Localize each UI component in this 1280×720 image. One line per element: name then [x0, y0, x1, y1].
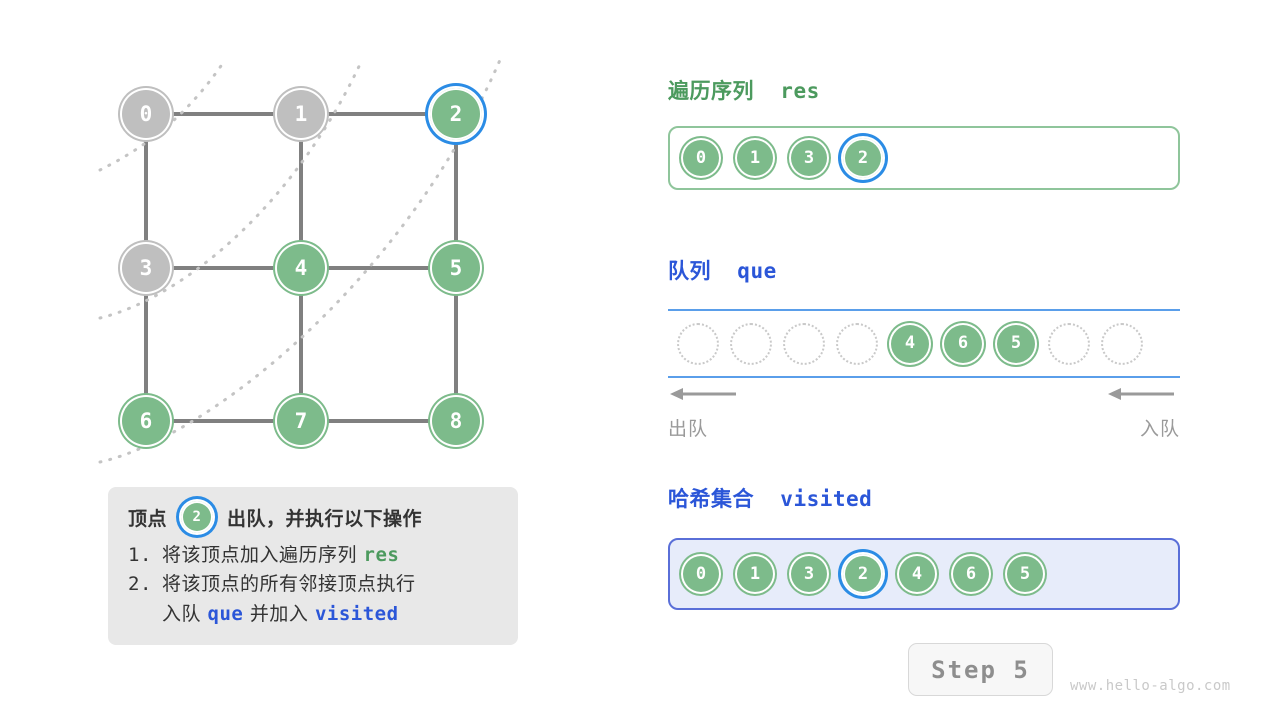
visited-item-label: 5: [1020, 566, 1030, 583]
res-item[interactable]: 1: [735, 138, 775, 178]
res-item[interactable]: 3: [789, 138, 829, 178]
caption-step-1-number: 1.: [128, 541, 162, 570]
visited-container: 0 1 3 2 4 6 5: [668, 538, 1180, 610]
res-item-highlighted[interactable]: 2: [843, 138, 883, 178]
visited-title-cn: 哈希集合: [668, 487, 754, 511]
res-item-label: 2: [858, 150, 868, 167]
res-item-label: 1: [750, 150, 760, 167]
caption-step-2-text-mid: 并加入: [243, 603, 315, 625]
enqueue-arrow-icon: [1108, 386, 1176, 402]
visited-item-label: 3: [804, 566, 814, 583]
res-item-label: 3: [804, 150, 814, 167]
graph-node-3[interactable]: 3: [120, 242, 172, 294]
visited-item[interactable]: 1: [735, 554, 775, 594]
caption-step-1-body: 将该顶点加入遍历序列 res: [162, 541, 500, 570]
visited-title-code-wrap: visited: [754, 487, 872, 511]
graph-node-2[interactable]: 2: [430, 88, 482, 140]
graph-node-8[interactable]: 8: [430, 395, 482, 447]
visited-item-label: 0: [696, 566, 706, 583]
que-slot-filled[interactable]: 5: [995, 323, 1037, 365]
graph-node-0-label: 0: [140, 104, 153, 125]
queue-direction-arrows: [668, 386, 1180, 404]
caption-step-1: 1. 将该顶点加入遍历序列 res: [128, 541, 500, 570]
visited-item-label: 4: [912, 566, 922, 583]
caption-prefix: 顶点: [128, 504, 167, 531]
que-slot-empty[interactable]: [1048, 323, 1090, 365]
res-title-cn: 遍历序列: [668, 79, 754, 103]
caption-box: 顶点 2 出队，并执行以下操作 1. 将该顶点加入遍历序列 res 2. 将该顶…: [108, 487, 518, 645]
que-slot-empty[interactable]: [677, 323, 719, 365]
res-section-title: 遍历序列 res: [668, 75, 820, 105]
res-container: 0 1 3 2: [668, 126, 1180, 190]
graph-node-6-label: 6: [140, 411, 153, 432]
visited-item[interactable]: 5: [1005, 554, 1045, 594]
step-badge: Step 5: [908, 643, 1053, 696]
graph-node-3-label: 3: [140, 258, 153, 279]
visited-item-label: 1: [750, 566, 760, 583]
visited-item-label: 6: [966, 566, 976, 583]
que-container: 4 6 5: [668, 309, 1180, 378]
que-slot-empty[interactable]: [783, 323, 825, 365]
que-slot-label: 6: [958, 335, 968, 352]
graph-node-0[interactable]: 0: [120, 88, 172, 140]
caption-step-2-number: 2.: [128, 570, 162, 629]
watermark: www.hello-algo.com: [1070, 678, 1231, 694]
res-item-label: 0: [696, 150, 706, 167]
caption-node-2-label: 2: [193, 510, 202, 524]
que-slot-filled[interactable]: 4: [889, 323, 931, 365]
que-slot-filled[interactable]: 6: [942, 323, 984, 365]
que-title-cn: 队列: [668, 259, 711, 283]
graph-node-8-label: 8: [450, 411, 463, 432]
graph-node-5[interactable]: 5: [430, 242, 482, 294]
graph-node-2-label: 2: [450, 104, 463, 125]
graph-node-1[interactable]: 1: [275, 88, 327, 140]
dequeue-label: 出队: [668, 414, 708, 441]
visited-item[interactable]: 6: [951, 554, 991, 594]
visited-title-code: visited: [780, 487, 872, 511]
caption-step-2-body: 将该顶点的所有邻接顶点执行入队 que 并加入 visited: [162, 570, 500, 629]
visited-item[interactable]: 0: [681, 554, 721, 594]
res-item[interactable]: 0: [681, 138, 721, 178]
que-slot-empty[interactable]: [836, 323, 878, 365]
que-title-code-wrap: que: [711, 259, 777, 283]
caption-step-2-code-visited: visited: [315, 603, 399, 625]
que-section-title: 队列 que: [668, 255, 777, 285]
enqueue-label: 入队: [1140, 414, 1180, 441]
caption-step-2-text-line1: 将该顶点的所有邻接顶点执行: [162, 573, 416, 595]
caption-step-2-text-line2: 入队: [162, 603, 208, 625]
graph-node-4-label: 4: [295, 258, 308, 279]
graph-node-4[interactable]: 4: [275, 242, 327, 294]
que-title-code: que: [737, 259, 776, 283]
visited-item[interactable]: 4: [897, 554, 937, 594]
visited-item[interactable]: 3: [789, 554, 829, 594]
que-slot-empty[interactable]: [730, 323, 772, 365]
graph-node-7-label: 7: [295, 411, 308, 432]
caption-heading: 顶点 2 出队，并执行以下操作: [128, 501, 500, 533]
graph-node-1-label: 1: [295, 104, 308, 125]
caption-step-2-code-que: que: [208, 603, 244, 625]
queue-direction-labels: 出队 入队: [668, 414, 1180, 441]
dequeue-arrow-icon: [670, 386, 738, 402]
visited-section-title: 哈希集合 visited: [668, 483, 872, 513]
visited-item-label: 2: [858, 566, 868, 583]
caption-step-1-text: 将该顶点加入遍历序列: [162, 544, 364, 566]
visited-item-highlighted[interactable]: 2: [843, 554, 883, 594]
caption-suffix: 出队，并执行以下操作: [227, 504, 422, 531]
que-slot-label: 5: [1011, 335, 1021, 352]
res-title-code: res: [780, 79, 819, 103]
res-title-code-wrap: res: [754, 79, 820, 103]
que-slot-label: 4: [905, 335, 915, 352]
que-slot-empty[interactable]: [1101, 323, 1143, 365]
graph-node-5-label: 5: [450, 258, 463, 279]
caption-step-1-code-res: res: [364, 544, 400, 566]
graph-panel: 0 1 2 3 4 5 6 7 8: [0, 0, 600, 500]
graph-node-7[interactable]: 7: [275, 395, 327, 447]
caption-node-2: 2: [181, 501, 213, 533]
graph-node-6[interactable]: 6: [120, 395, 172, 447]
caption-step-2: 2. 将该顶点的所有邻接顶点执行入队 que 并加入 visited: [128, 570, 500, 629]
